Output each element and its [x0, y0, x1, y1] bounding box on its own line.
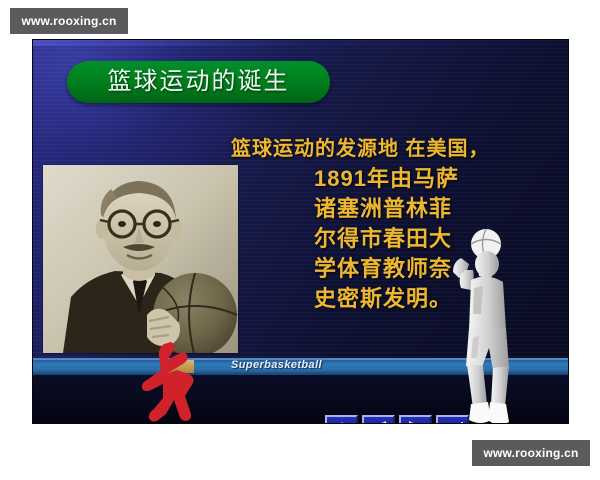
slide-top-accent-band: [33, 40, 568, 46]
screenshot-root: 篮球运动的诞生: [0, 0, 600, 480]
home-button[interactable]: [325, 415, 358, 423]
left-arrow-icon: [369, 420, 389, 423]
naismith-portrait-photo: [43, 165, 238, 353]
body-line-1: 篮球运动的发源地 在美国，: [231, 134, 566, 164]
right-arrow-icon: [406, 420, 426, 423]
footer-brand-label: Superbasketball: [231, 359, 322, 371]
body-line-2: 1891年由马萨: [314, 164, 566, 194]
return-button[interactable]: [436, 415, 469, 423]
basketball-player-silhouette: [443, 218, 538, 423]
previous-button[interactable]: [362, 415, 395, 423]
slide-navigation-bar[interactable]: [325, 415, 469, 423]
jumpman-logo-icon: [133, 340, 203, 422]
return-icon: [442, 420, 464, 423]
watermark-bottom: www.rooxing.cn: [472, 440, 590, 466]
watermark-top: www.rooxing.cn: [10, 8, 128, 34]
slide-title-text: 篮球运动的诞生: [108, 70, 290, 94]
presentation-slide: 篮球运动的诞生: [33, 40, 568, 423]
home-icon: [331, 420, 353, 423]
slide-title-pill: 篮球运动的诞生: [67, 61, 330, 103]
next-button[interactable]: [399, 415, 432, 423]
